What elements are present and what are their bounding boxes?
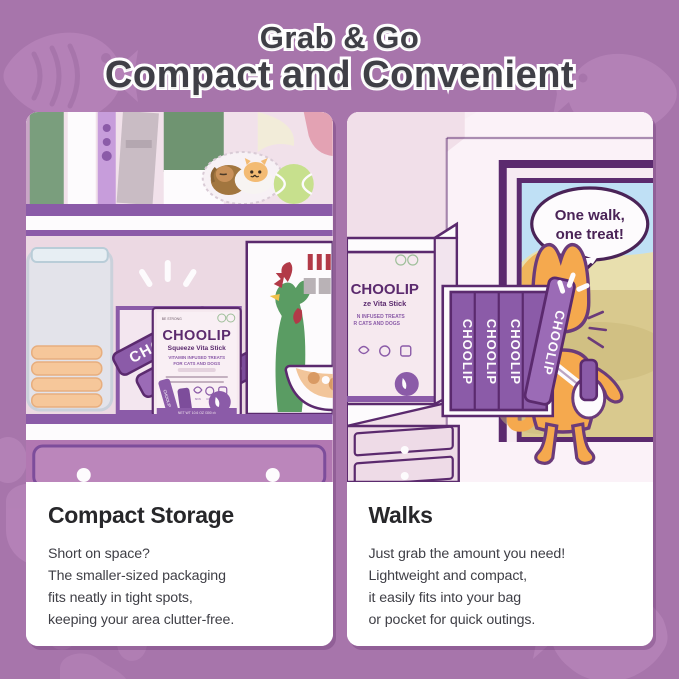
caption-compact-storage: Compact Storage Short on space? The smal…: [26, 482, 333, 646]
illustration-pantry-shelf: CHOOLIP CHOOLIP CHOOLIP: [26, 112, 333, 482]
card-body: Short on space? The smaller-sized packag…: [48, 543, 313, 631]
svg-text:Squeeze Vita Stick: Squeeze Vita Stick: [168, 345, 226, 352]
drawer-knob: [266, 468, 280, 482]
svg-text:BE STRONG: BE STRONG: [162, 317, 182, 321]
product-box-front: BE STRONG CHOOLIP Squeeze Vita Stick VIT…: [153, 308, 241, 419]
card-title: Compact Storage: [48, 502, 313, 529]
svg-text:VITAMIN INFUSED TREATS: VITAMIN INFUSED TREATS: [168, 355, 225, 360]
svg-text:N INFUSED TREATS: N INFUSED TREATS: [356, 314, 405, 320]
header: Grab & Go Compact and Convenient: [0, 22, 679, 95]
svg-text:FOR CATS AND DOGS: FOR CATS AND DOGS: [173, 361, 220, 366]
card-walks: One walk, one treat!: [347, 112, 654, 646]
svg-text:One walk,: One walk,: [554, 207, 624, 224]
svg-text:one treat!: one treat!: [555, 226, 623, 243]
svg-text:CHOOLIP: CHOOLIP: [350, 281, 418, 298]
svg-text:R CATS AND DOGS: R CATS AND DOGS: [353, 321, 400, 327]
svg-text:CHOOLIP: CHOOLIP: [162, 328, 231, 344]
card-compact-storage: CHOOLIP CHOOLIP CHOOLIP: [26, 112, 333, 646]
cereal-box: [247, 242, 333, 414]
svg-text:CHOOLIP: CHOOLIP: [459, 319, 474, 385]
card-row: CHOOLIP CHOOLIP CHOOLIP: [26, 112, 653, 646]
drawer-knob: [400, 472, 408, 480]
shelf-bottle-green: [30, 112, 64, 204]
drawer-knob: [400, 446, 408, 454]
caption-walks: Walks Just grab the amount you need! Lig…: [347, 482, 654, 646]
drawer-knob: [77, 468, 91, 482]
card-title: Walks: [369, 502, 634, 529]
svg-text:SKIN: SKIN: [195, 397, 201, 401]
svg-text:CHOOLIP: CHOOLIP: [483, 319, 498, 385]
svg-text:CHOOLIP: CHOOLIP: [507, 319, 522, 385]
illustration-doorway-walk: One walk, one treat!: [347, 112, 654, 482]
choolip-stick-in-bag: [580, 360, 596, 400]
svg-text:ze Vita Stick: ze Vita Stick: [363, 299, 407, 308]
treat-jar: [28, 248, 112, 410]
tennis-ball: [274, 164, 314, 204]
shelf-board: [26, 204, 333, 216]
card-body: Just grab the amount you need! Lightweig…: [369, 543, 634, 631]
infographic-page: Grab & Go Compact and Convenient: [0, 0, 679, 679]
title-line-1: Grab & Go: [0, 22, 679, 55]
title-line-2: Compact and Convenient: [0, 55, 679, 95]
